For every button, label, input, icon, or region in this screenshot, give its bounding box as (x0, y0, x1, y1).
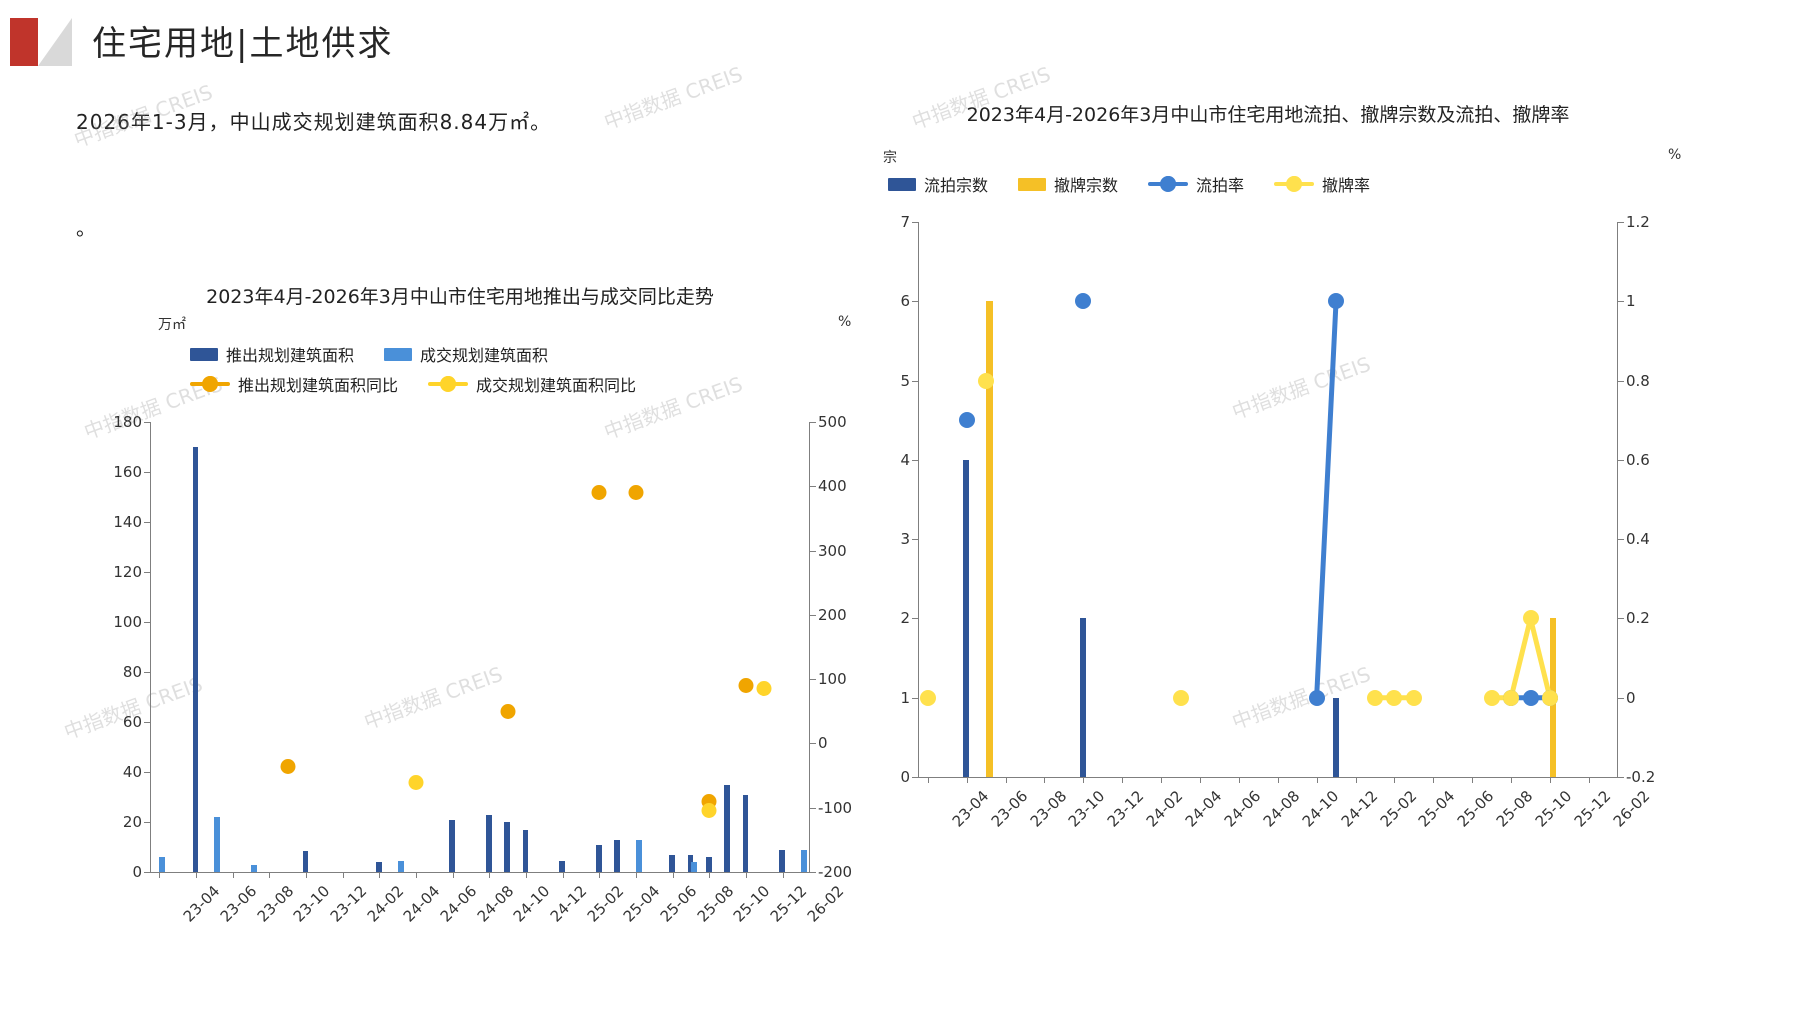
x-axis-tick-label: 25-02 (583, 882, 627, 926)
x-axis-tick-label: 23-06 (217, 882, 261, 926)
x-axis-tick-label: 23-12 (327, 882, 371, 926)
chart-data-point (628, 485, 643, 500)
legend-line-swatch (1148, 182, 1188, 186)
chart-data-point (959, 412, 975, 428)
x-axis-tick (1200, 777, 1201, 783)
chart-data-point (738, 678, 753, 693)
y2-axis-tick (810, 422, 816, 423)
x-axis-tick-label: 25-02 (1376, 787, 1420, 831)
x-axis-tick (709, 872, 710, 878)
page-header: 住宅用地|土地供求 (0, 0, 1797, 92)
x-axis-tick (636, 872, 637, 878)
y2-axis-tick (1618, 539, 1624, 540)
x-axis-tick (1394, 777, 1395, 783)
x-axis-tick-label: 24-02 (363, 882, 407, 926)
x-axis-tick (1006, 777, 1007, 783)
chart-data-point (1523, 610, 1539, 626)
legend-bar-swatch (1018, 178, 1046, 191)
x-axis-tick-label: 23-08 (1026, 787, 1070, 831)
chart-data-point (280, 759, 295, 774)
right-plot-area: 01234567-0.200.20.40.60.811.223-0423-062… (918, 222, 1618, 777)
x-axis-tick (1472, 777, 1473, 783)
x-axis-tick (783, 872, 784, 878)
y2-axis-tick (1618, 301, 1624, 302)
chart-data-point (978, 373, 994, 389)
left-chart-title: 2023年4月-2026年3月中山市住宅用地推出与成交同比走势 (110, 282, 810, 312)
x-axis-tick-label: 24-04 (400, 882, 444, 926)
x-axis-tick (1317, 777, 1318, 783)
x-axis-tick (269, 872, 270, 878)
x-axis-tick (306, 872, 307, 878)
y-axis-tick (912, 777, 918, 778)
x-axis-tick (233, 872, 234, 878)
x-axis-tick (563, 872, 564, 878)
left-chart-panel: 2026年1-3月，中山成交规划建筑面积8.84万㎡。 。 中指数据 CREIS… (0, 92, 898, 1010)
legend-bar-swatch (190, 348, 218, 361)
x-axis-tick (599, 872, 600, 878)
x-axis-tick-label: 24-10 (510, 882, 554, 926)
y2-axis-tick (810, 679, 816, 680)
chart-data-point (757, 681, 772, 696)
chart-data-point (1406, 690, 1422, 706)
x-axis-tick (343, 872, 344, 878)
x-axis-tick-label: 26-02 (803, 882, 847, 926)
lead-text: 2026年1-3月，中山成交规划建筑面积8.84万㎡。 (76, 106, 551, 135)
y2-axis-tick (810, 743, 816, 744)
legend-item: 推出规划建筑面积 (190, 342, 354, 366)
y2-axis-tick (1618, 618, 1624, 619)
x-axis-tick-label: 25-06 (657, 882, 701, 926)
x-axis-tick (1083, 777, 1084, 783)
x-axis-tick (1550, 777, 1551, 783)
legend-item: 撤牌率 (1274, 172, 1370, 196)
x-axis-tick-label: 26-02 (1610, 787, 1654, 831)
legend-label: 推出规划建筑面积 (226, 342, 354, 366)
legend-label: 撤牌宗数 (1054, 172, 1118, 196)
legend-item: 成交规划建筑面积同比 (428, 372, 636, 396)
legend-item: 推出规划建筑面积同比 (190, 372, 398, 396)
chart-data-point (1542, 690, 1558, 706)
x-axis-tick-label: 23-12 (1104, 787, 1148, 831)
x-axis-tick-label: 25-10 (1532, 787, 1576, 831)
legend-label: 成交规划建筑面积 (420, 342, 548, 366)
y2-axis-tick (810, 808, 816, 809)
y-axis-tick (144, 872, 150, 873)
x-axis-tick-label: 25-12 (1571, 787, 1615, 831)
creis-logo-icon (10, 18, 72, 66)
x-axis-tick-label: 23-06 (987, 787, 1031, 831)
legend-bar-swatch (384, 348, 412, 361)
right-chart-panel: 中指数据 CREIS 中指数据 CREIS 中指数据 CREIS 2023年4月… (898, 92, 1797, 1010)
x-axis-tick-label: 24-08 (473, 882, 517, 926)
right-y2-axis-unit: % (1668, 147, 1681, 163)
legend-label: 撤牌率 (1322, 172, 1370, 196)
page-title: 住宅用地|土地供求 (92, 16, 393, 65)
x-axis-tick-label: 24-02 (1143, 787, 1187, 831)
chart-data-point (1075, 293, 1091, 309)
legend-line-swatch (190, 382, 230, 386)
legend-label: 推出规划建筑面积同比 (238, 372, 398, 396)
y2-axis-tick (1618, 777, 1624, 778)
x-axis-tick (1278, 777, 1279, 783)
x-axis-tick (1122, 777, 1123, 783)
x-axis-tick-label: 24-12 (1337, 787, 1381, 831)
chart-data-point (1523, 690, 1539, 706)
chart-data-point (1328, 293, 1344, 309)
x-axis-tick (673, 872, 674, 878)
legend-label: 流拍宗数 (924, 172, 988, 196)
y2-axis-tick-label: -100 (810, 799, 852, 817)
y2-axis-tick-label: -200 (810, 863, 852, 881)
legend-item: 流拍率 (1148, 172, 1244, 196)
y2-axis-tick (1618, 698, 1624, 699)
x-axis-tick-label: 24-10 (1298, 787, 1342, 831)
chart-data-point (1386, 690, 1402, 706)
x-axis-tick (1589, 777, 1590, 783)
left-y2-axis-unit: % (838, 314, 851, 330)
legend-label: 成交规划建筑面积同比 (476, 372, 636, 396)
x-axis-tick (1511, 777, 1512, 783)
left-plot-area: 020406080100120140160180-200-10001002003… (150, 422, 810, 872)
x-axis-tick (416, 872, 417, 878)
x-axis-tick-label: 24-06 (1221, 787, 1265, 831)
right-chart-legend: 流拍宗数撤牌宗数流拍率撤牌率 (888, 172, 1608, 202)
chart-data-point (408, 775, 423, 790)
x-axis-tick-label: 24-12 (547, 882, 591, 926)
chart-data-point (1503, 690, 1519, 706)
chart-data-point (1367, 690, 1383, 706)
x-axis-tick (1433, 777, 1434, 783)
x-axis-tick (196, 872, 197, 878)
legend-line-swatch (428, 382, 468, 386)
x-axis-tick-label: 23-04 (180, 882, 224, 926)
legend-bar-swatch (888, 178, 916, 191)
y2-axis-tick (1618, 381, 1624, 382)
x-axis-tick (1044, 777, 1045, 783)
right-chart-title: 2023年4月-2026年3月中山市住宅用地流拍、撤牌宗数及流拍、撤牌率 (818, 100, 1718, 130)
x-axis-tick (159, 872, 160, 878)
y2-axis-tick (810, 615, 816, 616)
x-axis-tick (526, 872, 527, 878)
y2-axis-tick (810, 872, 816, 873)
lead-dot: 。 (76, 212, 96, 241)
chart-data-point (500, 704, 515, 719)
x-axis-tick-label: 25-12 (767, 882, 811, 926)
y2-axis-tick (1618, 460, 1624, 461)
legend-label: 流拍率 (1196, 172, 1244, 196)
x-axis-tick-label: 24-04 (1182, 787, 1226, 831)
y2-axis-tick (1618, 222, 1624, 223)
x-axis-tick-label: 25-08 (1493, 787, 1537, 831)
x-axis-tick (967, 777, 968, 783)
y2-axis-tick (810, 486, 816, 487)
x-axis-tick-label: 23-10 (290, 882, 334, 926)
right-y-axis-unit: 宗 (883, 147, 897, 167)
chart-data-point (1309, 690, 1325, 706)
chart-data-point (702, 803, 717, 818)
x-axis-tick-label: 25-08 (693, 882, 737, 926)
x-axis-tick (746, 872, 747, 878)
x-axis-tick (379, 872, 380, 878)
x-axis-tick-label: 25-04 (620, 882, 664, 926)
chart-data-point (920, 690, 936, 706)
legend-line-swatch (1274, 182, 1314, 186)
x-axis-tick-label: 25-04 (1415, 787, 1459, 831)
x-axis-tick (489, 872, 490, 878)
legend-item: 流拍宗数 (888, 172, 988, 196)
chart-data-point (1484, 690, 1500, 706)
y2-axis-tick (810, 551, 816, 552)
chart-data-point (592, 485, 607, 500)
x-axis-tick (1161, 777, 1162, 783)
legend-item: 成交规划建筑面积 (384, 342, 548, 366)
left-y-axis-unit: 万㎡ (158, 314, 186, 334)
x-axis-tick-label: 23-10 (1065, 787, 1109, 831)
x-axis-tick-label: 23-08 (253, 882, 297, 926)
x-axis-tick-label: 24-06 (437, 882, 481, 926)
x-axis-tick-label: 25-10 (730, 882, 774, 926)
x-axis-tick (928, 777, 929, 783)
x-axis-tick-label: 23-04 (948, 787, 992, 831)
x-axis-tick (1356, 777, 1357, 783)
x-axis-tick (453, 872, 454, 878)
x-axis-tick (1239, 777, 1240, 783)
legend-item: 撤牌宗数 (1018, 172, 1118, 196)
chart-data-point (1173, 690, 1189, 706)
x-axis-tick-label: 24-08 (1260, 787, 1304, 831)
left-chart-legend: 推出规划建筑面积成交规划建筑面积推出规划建筑面积同比成交规划建筑面积同比 (190, 342, 810, 402)
x-axis-tick-label: 25-06 (1454, 787, 1498, 831)
